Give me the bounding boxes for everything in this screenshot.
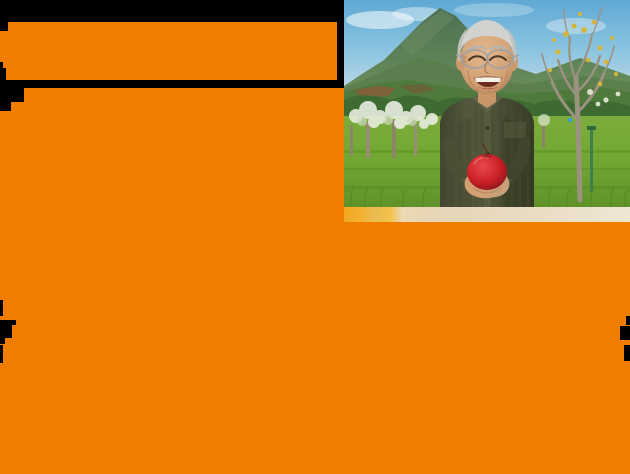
edge-tick-left-e bbox=[0, 300, 3, 316]
photo-image bbox=[344, 0, 630, 208]
headline-corner-bottom-left bbox=[0, 68, 6, 80]
edge-tick-right-a bbox=[620, 326, 630, 340]
photo-block bbox=[344, 0, 630, 222]
edge-tick-right-b bbox=[624, 345, 630, 361]
edge-tick-left-d bbox=[0, 345, 3, 363]
headline-divider-rule bbox=[0, 80, 337, 85]
orange-body-column bbox=[0, 88, 344, 222]
orange-background-field bbox=[0, 222, 630, 474]
edge-tick-left-b bbox=[0, 325, 12, 338]
edge-tick-mid-left bbox=[0, 92, 4, 100]
page-root bbox=[0, 0, 630, 474]
column-notch-lower bbox=[0, 102, 11, 111]
edge-tick-left-c bbox=[0, 338, 5, 344]
edge-tick-right-c bbox=[626, 316, 630, 325]
headline-corner-top-left bbox=[0, 22, 8, 31]
headline-slab bbox=[0, 22, 337, 80]
photo-frame-bottom-strip bbox=[344, 207, 630, 222]
